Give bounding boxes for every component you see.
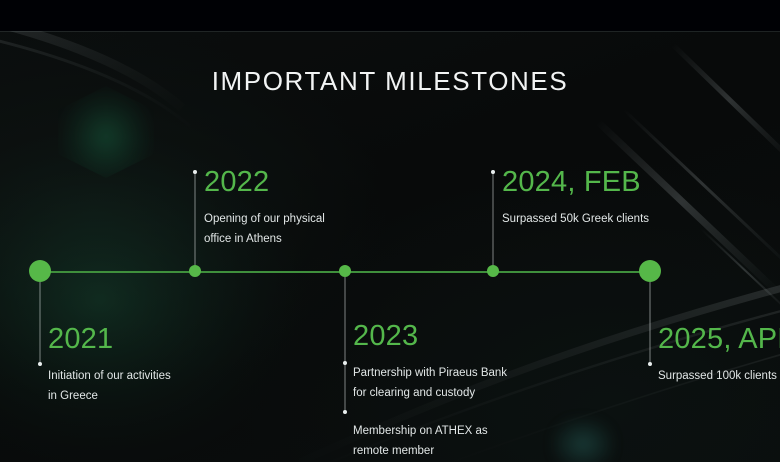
slide-canvas: IMPORTANT MILESTONES 2021 Initiation of … — [0, 0, 780, 462]
connector-2021 — [40, 282, 41, 364]
top-divider — [0, 31, 780, 32]
timeline-node-2022[interactable] — [189, 265, 201, 277]
milestone-desc-line: office in Athens — [204, 229, 325, 249]
milestone-2025: 2025, APR Surpassed 100k clients — [658, 325, 780, 386]
connector-2025 — [650, 282, 651, 364]
milestone-desc-line: Partnership with Piraeus Bank — [353, 363, 507, 383]
milestone-desc-line: remote member — [353, 441, 507, 461]
milestone-desc-line: Membership on ATHEX as — [353, 421, 507, 441]
milestone-2023: 2023 Partnership with Piraeus Bank for c… — [353, 322, 507, 461]
timeline-node-2025[interactable] — [639, 260, 661, 282]
connector-dot-2025 — [648, 362, 652, 366]
connector-2022 — [195, 172, 196, 266]
connector-dot-2021 — [38, 362, 42, 366]
milestone-desc-line: in Greece — [48, 386, 171, 406]
milestone-year: 2025, APR — [658, 325, 780, 354]
connector-dot-2022 — [193, 170, 197, 174]
milestone-year: 2023 — [353, 322, 507, 351]
timeline-node-2021[interactable] — [29, 260, 51, 282]
top-black-bar — [0, 0, 780, 31]
milestone-desc-line: Surpassed 100k clients — [658, 366, 780, 386]
milestone-desc-line: Surpassed 50k Greek clients — [502, 209, 649, 229]
milestone-2021: 2021 Initiation of our activities in Gre… — [48, 325, 171, 406]
connector-dot-2023-b — [343, 410, 347, 414]
connector-2024 — [493, 172, 494, 266]
milestone-desc-line: Opening of our physical — [204, 209, 325, 229]
connector-dot-2024 — [491, 170, 495, 174]
milestone-desc-line: Initiation of our activities — [48, 366, 171, 386]
milestone-year: 2022 — [204, 168, 325, 197]
page-title: IMPORTANT MILESTONES — [0, 66, 780, 97]
milestone-2024: 2024, FEB Surpassed 50k Greek clients — [502, 168, 649, 229]
milestone-desc-line: for clearing and custody — [353, 383, 507, 403]
timeline-node-2023[interactable] — [339, 265, 351, 277]
connector-dot-2023-a — [343, 361, 347, 365]
milestone-year: 2024, FEB — [502, 168, 649, 197]
milestone-year: 2021 — [48, 325, 171, 354]
milestone-2022: 2022 Opening of our physical office in A… — [204, 168, 325, 249]
timeline-node-2024[interactable] — [487, 265, 499, 277]
connector-2023 — [345, 277, 346, 413]
